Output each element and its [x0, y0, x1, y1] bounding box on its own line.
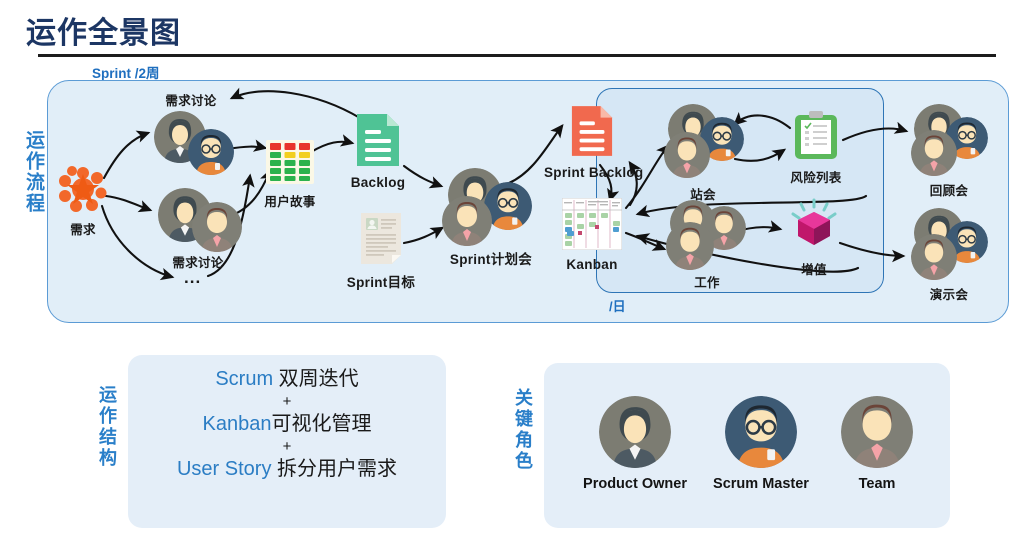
risk-list-clipboard-icon [794, 110, 838, 160]
node-demand-label: 需求 [52, 219, 114, 238]
backlog-document-icon [355, 112, 401, 168]
node-backlog[interactable]: Backlog [350, 112, 406, 190]
node-retrospective-label: 回顾会 [908, 180, 990, 199]
structure-plus-2: + [128, 439, 446, 454]
avatar-team [666, 222, 714, 270]
sprint-goal-document-icon [360, 212, 402, 264]
slide-root: 运作全景图 运作流程 Sprint /2周 /日 [0, 0, 1024, 557]
node-standup[interactable]: 站会 [662, 104, 744, 203]
avatar-group [662, 104, 744, 182]
node-retrospective[interactable]: 回顾会 [908, 104, 990, 199]
node-user-story[interactable]: 用户故事 [258, 140, 322, 210]
avatar-team [442, 196, 492, 246]
title-divider [38, 54, 996, 57]
user-story-cards-icon [266, 140, 314, 184]
avatar-group [908, 104, 990, 178]
node-kanban[interactable]: Kanban [556, 198, 628, 272]
structure-plus-1: + [128, 394, 446, 409]
node-demo-label: 演示会 [908, 284, 990, 303]
node-demo[interactable]: 演示会 [908, 208, 990, 303]
node-sprint-planning[interactable]: Sprint计划会 [436, 168, 546, 268]
daily-caption: /日 [609, 296, 626, 315]
node-sprint-goal-label: Sprint目标 [346, 271, 416, 291]
structure-line-2-en: Kanban [203, 413, 272, 435]
structure-line-1-zh: 双周迭代 [279, 368, 359, 390]
avatar-group [436, 168, 546, 246]
avatar-product-owner [599, 396, 671, 468]
node-sprint-backlog[interactable]: Sprint Backlog [544, 104, 640, 180]
structure-lines: Scrum 双周迭代 + Kanban可视化管理 + User Story 拆分… [128, 366, 446, 482]
avatar-group [664, 200, 750, 270]
avatar-team [841, 396, 913, 468]
avatar-group [146, 111, 236, 183]
demand-star-icon [59, 166, 107, 212]
avatar-group [148, 188, 248, 250]
role-team-label: Team [812, 476, 942, 492]
node-increment-label: 增值 [786, 259, 842, 278]
role-scrum-master-label: Scrum Master [696, 476, 826, 492]
node-sprint-backlog-label: Sprint Backlog [544, 165, 640, 180]
avatar-team [911, 234, 957, 280]
structure-line-1: Scrum 双周迭代 [128, 366, 446, 393]
sprint-caption: Sprint /2周 [92, 62, 160, 82]
node-risk-list[interactable]: 风险列表 [788, 110, 844, 186]
role-product-owner-label: Product Owner [570, 476, 700, 492]
page-title: 运作全景图 [26, 8, 181, 52]
node-work-label: 工作 [664, 272, 750, 291]
node-discussion-more: ... [184, 268, 201, 288]
node-demand[interactable]: 需求 [52, 166, 114, 238]
node-increment[interactable]: 增值 [786, 198, 842, 278]
role-product-owner[interactable]: Product Owner [570, 396, 700, 492]
avatar-team [911, 130, 957, 176]
avatar-scrum-master [188, 129, 234, 175]
structure-line-3-en: User Story [177, 458, 277, 480]
increment-cube-icon [788, 198, 840, 252]
node-risk-list-label: 风险列表 [788, 167, 844, 186]
structure-line-2-zh: 可视化管理 [271, 413, 371, 435]
sprint-backlog-document-icon [570, 104, 614, 158]
role-team[interactable]: Team [812, 396, 942, 492]
section-label-roles: 关键角色 [502, 388, 536, 472]
node-sprint-planning-label: Sprint计划会 [436, 248, 546, 268]
node-discussion-top[interactable]: 需求讨论 [146, 90, 236, 183]
section-label-structure: 运作结构 [86, 385, 120, 469]
avatar-scrum-master [725, 396, 797, 468]
section-label-flow: 运作流程 [8, 130, 44, 214]
node-work[interactable]: 工作 [664, 200, 750, 291]
node-backlog-label: Backlog [350, 175, 406, 190]
structure-line-3-zh: 拆分用户需求 [277, 458, 397, 480]
node-sprint-goal[interactable]: Sprint目标 [346, 212, 416, 291]
node-discussion-top-label: 需求讨论 [146, 90, 236, 109]
avatar-group [908, 208, 990, 282]
structure-line-2: Kanban可视化管理 [128, 411, 446, 438]
avatar-team [192, 202, 242, 252]
node-discussion-mid[interactable]: 需求讨论 [148, 188, 248, 271]
node-user-story-label: 用户故事 [258, 191, 322, 210]
node-kanban-label: Kanban [556, 257, 628, 272]
role-scrum-master[interactable]: Scrum Master [696, 396, 826, 492]
structure-line-3: User Story 拆分用户需求 [128, 456, 446, 483]
avatar-team [664, 132, 710, 178]
kanban-board-icon [562, 198, 622, 250]
structure-line-1-en: Scrum [215, 368, 278, 390]
